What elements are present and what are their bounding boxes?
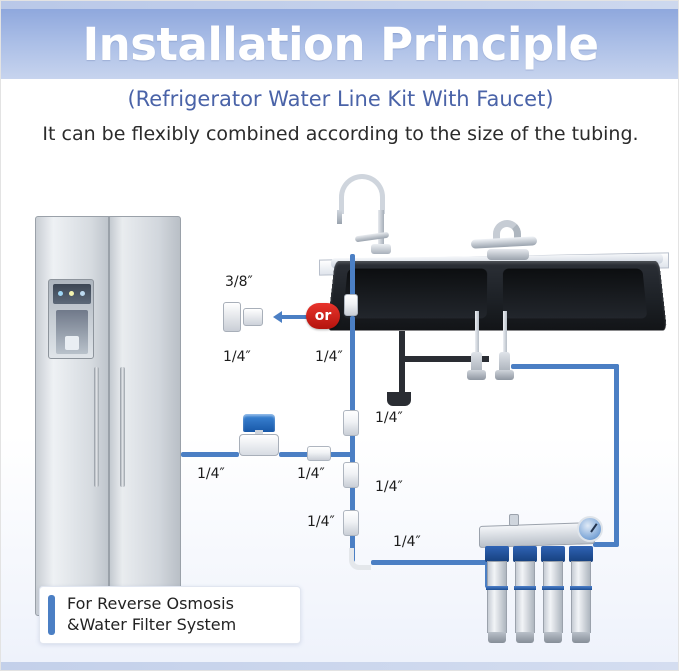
canister-band bbox=[514, 586, 536, 590]
or-badge: or bbox=[306, 303, 340, 329]
label-tube-to-ro: 1/4″ bbox=[393, 534, 421, 550]
label-connector-small: 1/4″ bbox=[223, 349, 251, 365]
tube-loop-vertical bbox=[614, 364, 619, 546]
canister-foot bbox=[516, 632, 534, 643]
page-tagline: It can be flexibly combined according to… bbox=[1, 123, 679, 145]
quick-connect-fitting-fridge-run bbox=[307, 446, 331, 461]
canister-body bbox=[543, 561, 563, 633]
system-callout: For Reverse Osmosis &Water Filter System bbox=[39, 586, 301, 644]
callout-line-1: For Reverse Osmosis bbox=[67, 594, 236, 615]
tube-tee-to-ro bbox=[371, 560, 489, 565]
ro-faucet-arc bbox=[339, 174, 385, 214]
label-tube-faucet-riser: 1/4″ bbox=[315, 349, 343, 365]
filter-canister-4 bbox=[569, 546, 593, 644]
page-subtitle: (Refrigerator Water Line Kit With Faucet… bbox=[1, 87, 679, 111]
faucet-base bbox=[487, 249, 529, 260]
elbow-fitting-icon bbox=[349, 548, 371, 570]
tube-coldstop-to-loop bbox=[511, 364, 619, 369]
callout-line-2: &Water Filter System bbox=[67, 615, 236, 636]
top-rail bbox=[1, 1, 679, 9]
filter-canister-2 bbox=[513, 546, 537, 644]
quick-connect-fitting-faucet bbox=[344, 294, 358, 316]
arrow-shaft bbox=[281, 315, 307, 319]
fitting-one-quarter bbox=[243, 308, 263, 326]
dispenser-led-1 bbox=[58, 291, 63, 296]
dispenser-led-3 bbox=[80, 291, 85, 296]
angle-stop-valve-hot bbox=[471, 352, 482, 378]
canister-cap bbox=[541, 546, 565, 562]
dispenser-led-2 bbox=[69, 291, 74, 296]
filter-canister-3 bbox=[541, 546, 565, 644]
connector-pair-group bbox=[217, 296, 269, 346]
reverse-osmosis-system-icon bbox=[479, 516, 609, 646]
filter-canister-1 bbox=[485, 546, 509, 644]
ro-faucet-lever bbox=[355, 232, 390, 243]
canister-cap bbox=[569, 546, 593, 562]
tee-fitting-middle bbox=[343, 462, 359, 488]
refrigerator-handle-right bbox=[120, 367, 125, 487]
canister-cap bbox=[485, 546, 509, 562]
tee-fitting-lower bbox=[343, 510, 359, 536]
supply-riser-hot bbox=[475, 311, 479, 355]
faucet-spout bbox=[471, 236, 537, 248]
canister-body bbox=[487, 561, 507, 633]
angle-stop-valve-cold bbox=[499, 352, 510, 378]
fitting-three-eighths bbox=[223, 302, 241, 332]
pressure-gauge-icon bbox=[577, 516, 603, 542]
valve-body bbox=[239, 434, 279, 456]
canister-body bbox=[515, 561, 535, 633]
callout-accent-bar bbox=[48, 595, 55, 635]
canister-foot bbox=[572, 632, 590, 643]
ro-faucet-mount bbox=[371, 244, 391, 254]
canister-band bbox=[570, 586, 592, 590]
drain-tailpiece bbox=[399, 331, 405, 359]
canister-body bbox=[571, 561, 591, 633]
refrigerator-handle-left bbox=[94, 367, 99, 487]
installation-diagram: or bbox=[1, 156, 679, 664]
dispenser-recess bbox=[56, 310, 88, 354]
label-tube-tee-lower: 1/4″ bbox=[307, 514, 335, 530]
kitchen-faucet-icon bbox=[471, 216, 541, 261]
arrow-left-icon bbox=[273, 311, 307, 323]
page-title: Installation Principle bbox=[1, 9, 679, 79]
sink-basin-right bbox=[503, 269, 647, 319]
tube-faucet-to-tee bbox=[350, 316, 355, 416]
double-basin-sink-icon bbox=[327, 261, 667, 330]
canister-cap bbox=[513, 546, 537, 562]
tee-fitting-upper bbox=[343, 410, 359, 436]
supply-riser-cold bbox=[503, 311, 507, 355]
canister-band bbox=[486, 586, 508, 590]
ro-inlet-valve bbox=[509, 514, 519, 526]
canister-foot bbox=[544, 632, 562, 643]
canister-foot bbox=[488, 632, 506, 643]
canister-band bbox=[542, 586, 564, 590]
bottom-rail bbox=[1, 662, 679, 670]
tube-fridge-to-valve bbox=[181, 452, 239, 457]
label-connector-large: 3/8″ bbox=[225, 274, 253, 290]
ro-faucet-outlet bbox=[337, 210, 342, 224]
label-tube-tee-mid: 1/4″ bbox=[375, 479, 403, 495]
dispenser-control-panel bbox=[53, 284, 91, 304]
sink-basin-left bbox=[343, 269, 488, 319]
ro-gooseneck-faucet-icon bbox=[331, 174, 397, 266]
blue-ball-valve-icon bbox=[235, 412, 283, 464]
refrigerator-door-seam bbox=[108, 217, 110, 617]
drain-elbow bbox=[387, 392, 411, 406]
label-tube-valve-right: 1/4″ bbox=[297, 466, 325, 482]
infographic-page: Installation Principle (Refrigerator Wat… bbox=[0, 0, 679, 671]
label-tube-tee-upper: 1/4″ bbox=[375, 410, 403, 426]
tube-faucet-riser bbox=[350, 254, 355, 296]
callout-text: For Reverse Osmosis &Water Filter System bbox=[67, 594, 236, 636]
water-dispenser-icon bbox=[48, 279, 94, 359]
refrigerator-icon bbox=[35, 216, 181, 616]
label-tube-fridge-left: 1/4″ bbox=[197, 466, 225, 482]
